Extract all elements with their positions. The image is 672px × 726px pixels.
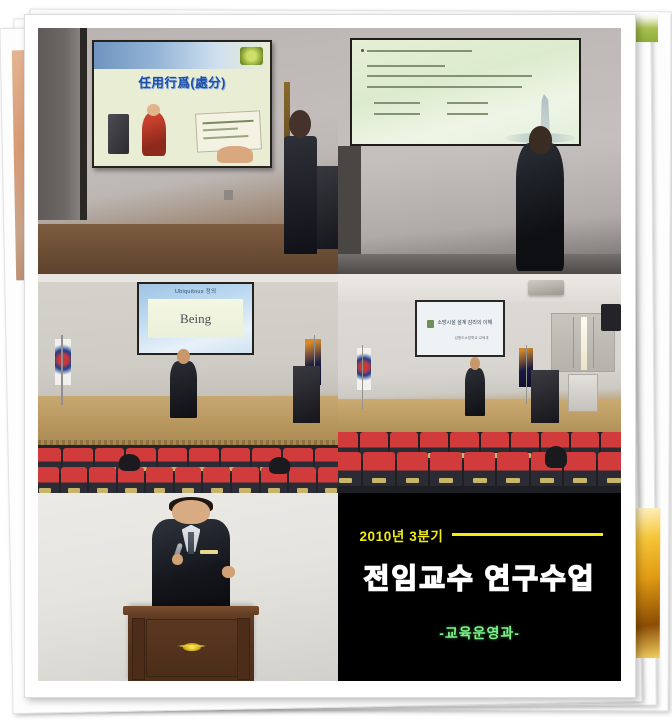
podium-top (123, 606, 259, 615)
projection-screen-frame: 소방시설 설계 감리의 이해 강원도소방학교 교육과 (415, 300, 505, 357)
wall-monitor (601, 304, 621, 330)
air-conditioner (568, 374, 598, 411)
title-panel[interactable]: 2010년 3분기 전임교수 연구수업 -교육운영과- (338, 493, 621, 681)
ceiling-projector (528, 280, 565, 295)
projection-screen-frame: 任用行爲(處分) (92, 40, 272, 168)
wall-outlet (224, 190, 233, 200)
slide-header-text: Ubiquitous 정의 (139, 287, 252, 295)
slide-title-text: 任用行爲(處分) (105, 72, 260, 91)
collage-grid: 任用行爲(處分) (38, 28, 621, 681)
emblem-icon (240, 47, 263, 64)
speaker-hand-left (172, 554, 183, 566)
wall-shadow (38, 28, 83, 220)
podium-front-panel (146, 619, 239, 677)
photo-top-left[interactable]: 任用行爲(處分) (38, 28, 338, 274)
slide-title-text: Being (148, 311, 243, 327)
korean-flag (355, 348, 371, 407)
slide-body-panel: Being (148, 299, 243, 337)
title-content: 2010년 3분기 전임교수 연구수업 -교육운영과- (338, 493, 621, 681)
korean-flag (53, 339, 71, 405)
speaker-name-badge (200, 550, 217, 555)
speaker-hand-right (222, 566, 235, 578)
podium (531, 370, 559, 423)
audience-seating (338, 432, 621, 493)
floor (338, 254, 621, 274)
wall-light (581, 317, 587, 370)
photo-bottom-left[interactable] (38, 493, 338, 681)
photo-top-right[interactable] (338, 28, 621, 274)
podium-side-right (237, 618, 250, 680)
slide-subtitle-text: 강원도소방학교 교육과 (455, 336, 498, 342)
podium (128, 606, 254, 681)
presenter-figure (465, 368, 485, 416)
speaker-head (172, 500, 209, 523)
photo-collage-card: 任用行爲(處分) (24, 14, 636, 698)
kicker-row: 2010년 3분기 (359, 525, 602, 545)
kicker-text: 2010년 3분기 (359, 525, 443, 545)
presenter-figure (170, 361, 197, 418)
projected-slide: 任用行爲(處分) (94, 42, 270, 166)
presenter-figure (516, 143, 564, 271)
podium-side-left (132, 618, 145, 680)
slide-cabinet-graphic (108, 114, 129, 154)
subtitle: -교육운영과- (338, 623, 621, 643)
speaker-tie (188, 532, 194, 554)
fire-service-emblem-icon (183, 643, 201, 652)
photo-middle-right[interactable]: 소방시설 설계 감리의 이해 강원도소방학교 교육과 (338, 274, 621, 493)
slide-title-text: 소방시설 설계 감리의 이해 (437, 319, 494, 326)
main-title: 전임교수 연구수업 (338, 557, 621, 597)
podium (293, 366, 320, 423)
audience-seating (38, 445, 338, 493)
wall-edge (80, 28, 87, 220)
projected-slide: Ubiquitous 정의 Being (139, 284, 252, 352)
audience-head (269, 457, 290, 473)
ceiling (38, 274, 338, 283)
kicker-rule (452, 533, 602, 536)
slide-firefighter-graphic (142, 112, 167, 157)
slide-icon (427, 320, 434, 328)
slide-hand-graphic (217, 146, 252, 163)
ceiling (338, 274, 621, 303)
audience-head (119, 454, 140, 470)
audience-head (545, 446, 568, 468)
projection-screen-frame: Ubiquitous 정의 Being (137, 282, 254, 354)
photo-middle-left[interactable]: Ubiquitous 정의 Being (38, 274, 338, 493)
presenter-figure (284, 136, 317, 254)
projected-slide: 소방시설 설계 감리의 이해 강원도소방학교 교육과 (417, 302, 503, 355)
speaker-figure (152, 519, 230, 609)
